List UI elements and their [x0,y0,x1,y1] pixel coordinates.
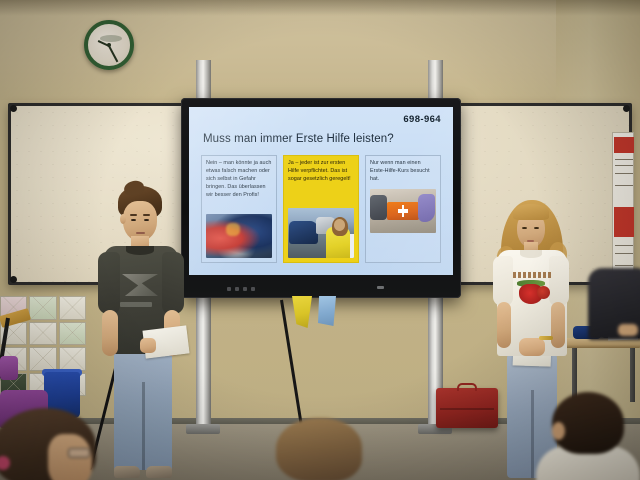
clock-center [107,43,111,47]
poster-line-5 [615,245,633,246]
answer-option-c-text: Nur wenn man einen Erste-Hilfe-Kurs besu… [370,159,436,183]
audience-member-front-center [276,418,364,480]
display-button-1[interactable] [227,287,231,291]
audience-member-front-right [540,392,638,480]
display-control-buttons[interactable] [227,287,255,291]
presenter-left-pants-seam [142,382,145,470]
whiteboard-corner-tr [623,105,630,112]
audience-member-seated-right [556,268,640,348]
presenter-right-shirt-wordmark [513,272,551,278]
wall-envelope [29,296,56,320]
answer-box-row: Nein – man könnte ja auch etwas falsch m… [201,155,441,263]
display-power-led [377,286,384,289]
wall-clock-icon [84,20,134,70]
presenter-left-mouth [136,232,145,234]
presenter-right-pants-seam [531,390,534,478]
answer-option-b[interactable]: Ja – jeder ist zur ersten Hilfe verpflic… [283,155,359,263]
classroom-photo-scene: 698-964 Muss man immer Erste Hilfe leist… [0,0,640,480]
roadside-helper-photo [288,208,354,258]
audience-right-ear [552,422,565,440]
presenter-left-brow-l [130,214,137,216]
interactive-flat-panel[interactable]: 698-964 Muss man immer Erste Hilfe leist… [181,98,461,298]
answer-option-c[interactable]: Nur wenn man einen Erste-Hilfe-Kurs besu… [365,155,441,263]
presenter-left-shoe-left [114,466,140,478]
red-equipment-case [436,388,498,428]
slide-title: Muss man immer Erste Hilfe leisten? [203,133,394,145]
presenter-right-hands [519,338,545,356]
clock-minute-hand [108,46,118,63]
poster-line-6 [615,253,633,254]
wall-envelope [29,322,56,346]
poster-line-3 [615,173,633,174]
whiteboard-corner-bl [10,276,17,283]
red-case-handle [457,383,477,391]
slide-session-code: 698-964 [403,114,441,125]
presentation-slide: 698-964 Muss man immer Erste Hilfe leist… [189,107,453,275]
poster-line-4 [615,185,633,186]
red-case-seam [440,408,494,410]
photo-cross-horizontal [398,209,409,213]
audience-right-head [552,392,624,454]
presenter-right-fringe [513,204,549,220]
presenter-left-sleeve-right [162,252,184,314]
poster-block-1 [614,137,634,153]
presenter-right-sleeve-left [493,256,513,306]
ceiling-shadow [0,0,640,16]
display-stand-foot-left [186,424,220,434]
wall-envelope [59,322,86,346]
presenter-left-collar [126,246,154,255]
display-button-2[interactable] [235,287,239,291]
answer-option-a-text: Nein – man könnte ja auch etwas falsch m… [206,159,272,199]
answer-option-a[interactable]: Nein – man könnte ja auch etwas falsch m… [201,155,277,263]
poster-line-7 [615,265,633,266]
wall-envelope [59,296,86,320]
display-screen[interactable]: 698-964 Muss man immer Erste Hilfe leist… [189,107,453,275]
first-aid-kit-photo [370,189,436,233]
presenter-left-shirt-text [120,302,152,307]
rescue-photo-highlight [226,223,241,236]
rescue-scene-photo [206,214,272,258]
whiteboard-corner-tl [10,105,17,112]
glasses-icon [68,448,90,458]
presenter-left-brow-r [143,214,150,216]
presenter-left-face [123,201,157,241]
photo-arm [370,195,387,220]
display-button-3[interactable] [243,287,247,291]
answer-option-b-text: Ja – jeder ist zur ersten Hilfe verpflic… [288,159,354,183]
photo-glove [418,194,435,222]
wall-envelope [29,347,56,371]
presenter-right-strawberry-graphic-2 [537,286,550,299]
seated-audience-hand [618,324,638,336]
presenter-left-forearm-left [102,310,118,356]
poster-line-2 [615,165,633,166]
display-bottom-bezel [181,276,461,298]
presenter-left-hand [140,338,156,353]
poster-line-1 [615,159,633,160]
display-button-4[interactable] [251,287,255,291]
photo-car-blue [289,221,318,244]
photo-helper-head [334,219,345,231]
wall-envelope [59,347,86,371]
audience-member-front-left [0,408,114,480]
presenter-right-collar [520,250,542,258]
presenter-left-ear [120,214,126,224]
presenter-left-sleeve-left [98,252,120,314]
presenter-right-bracelet [539,336,553,340]
poster-block-2 [614,207,634,237]
audience-center-head [276,418,362,480]
presenter-left-shoe-right [146,466,172,478]
blue-cloth [318,296,336,326]
presenter-right-forearm-left [497,302,511,348]
purple-chair-back [0,356,18,380]
clock-logo [100,35,122,42]
